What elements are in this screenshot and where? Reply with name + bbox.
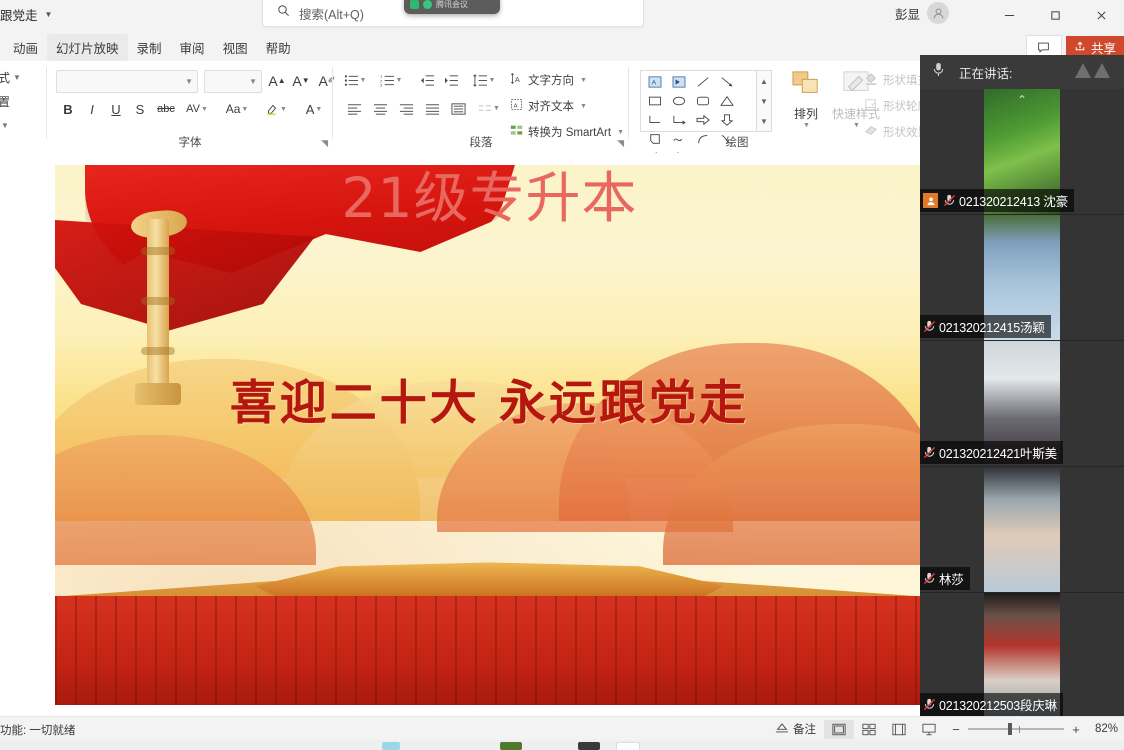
font-dialog-launcher[interactable]: ◥ <box>321 138 328 149</box>
wall-texture <box>55 596 924 705</box>
group-divider <box>46 67 47 139</box>
title-bar: 跟党走 ▼ 搜索(Alt+Q) 腾讯会议 彭显 <box>0 0 1124 34</box>
shape-elbow-connector2-icon[interactable] <box>667 110 691 129</box>
microphone-icon <box>932 62 945 82</box>
tab-help[interactable]: 帮助 <box>257 34 300 61</box>
scroll-up-icon[interactable]: ▲ <box>760 77 768 86</box>
text-shadow-button[interactable]: S <box>130 99 150 119</box>
svg-text:1: 1 <box>380 75 382 79</box>
tab-review[interactable]: 审阅 <box>171 34 214 61</box>
chevron-down-icon: ▼ <box>853 122 860 129</box>
shape-rectangle-icon[interactable] <box>643 91 667 110</box>
slideshow-view-button[interactable] <box>914 720 944 739</box>
chevron-down-icon: ▼ <box>489 77 496 84</box>
svg-text:A: A <box>652 79 657 86</box>
windows-taskbar <box>0 740 1124 750</box>
zoom-slider-thumb[interactable] <box>1008 723 1012 735</box>
emblem-ring <box>141 247 175 255</box>
text-direction-button[interactable]: A 文字方向 ▼ <box>510 72 587 88</box>
participant-name: 021320212421叶斯美 <box>939 443 1057 462</box>
party-emblem-column <box>129 201 189 401</box>
emblem-ring <box>141 347 175 355</box>
notes-button[interactable]: 备注 <box>767 720 824 739</box>
chevron-down-icon: ▼ <box>201 106 208 113</box>
zoom-slider-midpoint <box>1019 726 1020 733</box>
increase-font-size-button[interactable]: A▲ <box>266 70 288 91</box>
mic-off-icon <box>923 698 936 711</box>
slide-title-text[interactable]: 21级专升本 <box>55 171 924 226</box>
participant-tile[interactable]: 021320212415汤颖 <box>920 215 1124 341</box>
speaking-label: 正在讲话: <box>959 63 1012 82</box>
justify-button[interactable] <box>420 99 444 118</box>
slide-1[interactable]: 21级专升本 喜迎二十大 永远跟党走 <box>55 165 924 705</box>
mic-off-icon <box>923 572 936 585</box>
document-title-text: 跟党走 <box>0 5 38 24</box>
shape-oval-icon[interactable] <box>667 91 691 110</box>
application-window: 跟党走 ▼ 搜索(Alt+Q) 腾讯会议 彭显 <box>0 0 1124 750</box>
distribute-button[interactable] <box>446 99 470 118</box>
participant-video <box>984 467 1060 592</box>
slide-subtitle-text[interactable]: 喜迎二十大 永远跟党走 <box>55 380 924 427</box>
align-center-button[interactable] <box>368 99 392 118</box>
avatar[interactable] <box>927 2 949 24</box>
scroll-up-icon[interactable]: ⌃ <box>1017 93 1027 107</box>
ribbon-tabs: 动画 幻灯片放映 录制 审阅 视图 帮助 <box>4 34 300 61</box>
chevron-down-icon: ▼ <box>803 122 810 129</box>
window-controls <box>986 0 1124 30</box>
strikethrough-button[interactable]: abc <box>154 99 178 119</box>
zoom-control[interactable]: − + 82% <box>950 722 1118 737</box>
arrange-button[interactable]: 排列 ▼ <box>782 70 830 129</box>
section-button[interactable]: 节▼ <box>0 117 9 134</box>
arrange-icon <box>791 70 821 103</box>
zoom-level-label[interactable]: 82% <box>1088 723 1118 735</box>
character-spacing-button[interactable]: AV▼ <box>182 99 212 119</box>
shape-triangle-icon[interactable] <box>715 91 739 110</box>
taskbar-icon[interactable] <box>500 742 522 750</box>
host-badge <box>923 193 938 208</box>
participant-tile[interactable]: 021320212421叶斯美 <box>920 341 1124 467</box>
clear-formatting-icon[interactable]: A✐ <box>316 70 338 91</box>
bold-button[interactable]: B <box>58 99 78 119</box>
participant-tile[interactable]: ⌃ 021320212413 沈豪 <box>920 89 1124 215</box>
align-right-button[interactable] <box>394 99 418 118</box>
meeting-speaking-header: 正在讲话: <box>920 55 1124 89</box>
status-right-group: 备注 − + 82% <box>767 717 1118 741</box>
shape-line-icon[interactable] <box>691 72 715 91</box>
notes-icon <box>775 722 789 737</box>
ribbon-group-font: ▼ ▼ A▲ A▼ A✐ B I U S abc AV▼ Aa▼ ▼ A▼ 字体… <box>50 61 330 153</box>
ribbon-group-slides: 版式▼ 重置 节▼ <box>0 61 46 153</box>
font-name-combobox[interactable]: ▼ <box>56 70 198 93</box>
zoom-slider-track <box>968 728 1064 730</box>
reading-view-button[interactable] <box>884 720 914 739</box>
slide-sorter-view-button[interactable] <box>854 720 884 739</box>
scroll-down-icon[interactable]: ▼ <box>760 97 768 106</box>
change-case-label: Aa <box>226 102 241 116</box>
chevron-down-icon: ▼ <box>315 106 322 113</box>
numbering-button[interactable]: 123▼ <box>378 71 404 90</box>
search-placeholder: 搜索(Alt+Q) <box>299 4 364 23</box>
status-message: 功能: 一切就绪 <box>0 722 75 738</box>
participant-name: 021320212415汤颖 <box>939 317 1045 336</box>
meeting-panel: 正在讲话: ⌃ 021320212413 沈豪 <box>920 55 1124 716</box>
gallery-more-icon[interactable]: ▼ <box>760 117 768 126</box>
meeting-record-icon <box>423 0 432 9</box>
text-direction-icon: A <box>510 72 523 88</box>
participant-name: 林莎 <box>939 569 964 588</box>
participant-tile[interactable]: 林莎 <box>920 467 1124 593</box>
text-direction-label: 文字方向 <box>528 72 574 88</box>
emblem-ring <box>141 297 175 305</box>
chevron-down-icon: ▼ <box>1 121 9 130</box>
decrease-font-size-button[interactable]: A▼ <box>290 70 312 91</box>
decrease-indent-button[interactable] <box>416 71 438 90</box>
shape-arrow-box-icon[interactable] <box>667 72 691 91</box>
account-name: 彭显 <box>895 4 920 23</box>
minimize-button[interactable] <box>986 0 1032 30</box>
search-icon <box>277 4 290 22</box>
taskbar-icon[interactable] <box>578 742 600 750</box>
chevron-down-icon: ▼ <box>241 106 248 113</box>
status-bar: 功能: 一切就绪 备注 − <box>0 716 1124 741</box>
chevron-down-icon: ▼ <box>249 77 257 86</box>
taskbar-icon[interactable] <box>616 742 640 750</box>
reset-button[interactable]: 重置 <box>0 93 10 110</box>
mic-off-icon <box>923 446 936 459</box>
notes-label: 备注 <box>793 721 816 737</box>
shape-outline-icon <box>864 98 878 114</box>
meeting-mini-label: 腾讯会议 <box>436 0 468 10</box>
font-size-combobox[interactable]: ▼ <box>204 70 262 93</box>
layout-label: 版式 <box>0 69 10 86</box>
meeting-grid-icon <box>410 0 419 9</box>
participant-name-badge: 021320212415汤颖 <box>920 315 1051 338</box>
change-case-button[interactable]: Aa▼ <box>220 99 254 119</box>
audio-waves-icon <box>1075 63 1110 78</box>
chevron-down-icon: ▼ <box>185 77 193 86</box>
forbidden-city-graphic <box>55 467 924 705</box>
zoom-out-button[interactable]: − <box>950 722 962 737</box>
character-spacing-label: AV <box>186 103 200 115</box>
participant-name-badge: 021320212421叶斯美 <box>920 441 1063 464</box>
participant-name: 021320212503段庆琳 <box>939 695 1057 714</box>
svg-text:A: A <box>514 103 518 109</box>
increase-indent-button[interactable] <box>440 71 462 90</box>
mic-off-icon <box>923 320 936 333</box>
paragraph-group-label: 段落 <box>336 134 626 150</box>
align-text-label: 对齐文本 <box>528 98 574 114</box>
shape-arrow-icon[interactable] <box>715 72 739 91</box>
font-color-button[interactable]: A▼ <box>300 99 328 119</box>
columns-button[interactable]: ▼ <box>476 99 502 118</box>
layout-button[interactable]: 版式▼ <box>0 69 21 86</box>
maximize-button[interactable] <box>1032 0 1078 30</box>
shapes-gallery-scrollbar[interactable]: ▲ ▼ ▼ <box>756 71 771 131</box>
participant-name-badge: 021320212503段庆琳 <box>920 693 1063 716</box>
chevron-down-icon: ▼ <box>580 77 587 84</box>
chevron-down-icon: ▼ <box>280 106 287 113</box>
mic-off-icon <box>943 194 956 207</box>
meeting-mini-toolbar[interactable]: 腾讯会议 <box>404 0 500 14</box>
shape-down-arrow-icon[interactable] <box>715 110 739 129</box>
shape-fill-icon <box>864 72 878 88</box>
arrange-label: 排列 <box>794 105 818 122</box>
shape-rounded-rect-icon[interactable] <box>691 91 715 110</box>
svg-text:A: A <box>515 75 520 84</box>
participant-name-badge: 林莎 <box>920 567 970 590</box>
font-group-label: 字体 <box>50 134 330 150</box>
zoom-slider[interactable] <box>968 723 1064 735</box>
ribbon-group-paragraph: ▼ 123▼ ▼ <box>336 61 626 153</box>
tab-record[interactable]: 录制 <box>128 34 171 61</box>
share-icon <box>1074 40 1086 55</box>
chevron-down-icon: ▼ <box>13 73 21 82</box>
reset-label: 重置 <box>0 93 10 110</box>
shape-right-arrow-icon[interactable] <box>691 110 715 129</box>
tab-view[interactable]: 视图 <box>214 34 257 61</box>
paragraph-dialog-launcher[interactable]: ◥ <box>617 138 624 149</box>
chevron-down-icon: ▼ <box>360 77 367 84</box>
shape-textbox-icon[interactable]: A <box>643 72 667 91</box>
align-text-button[interactable]: A 对齐文本 ▼ <box>510 98 587 114</box>
taskbar-icon[interactable] <box>382 742 400 750</box>
tab-slideshow[interactable]: 幻灯片放映 <box>47 34 128 61</box>
group-divider <box>332 67 333 139</box>
close-button[interactable] <box>1078 0 1124 30</box>
group-divider <box>628 67 629 139</box>
shapes-gallery[interactable]: A <box>640 70 772 132</box>
tab-animation[interactable]: 动画 <box>4 34 47 61</box>
bullets-button[interactable]: ▼ <box>342 71 368 90</box>
participant-name: 021320212413 沈豪 <box>959 191 1068 210</box>
participant-list[interactable]: ⌃ 021320212413 沈豪 <box>920 89 1124 716</box>
document-title[interactable]: 跟党走 ▼ <box>0 4 52 24</box>
underline-button[interactable]: U <box>106 99 126 119</box>
normal-view-button[interactable] <box>824 720 854 739</box>
chevron-down-icon: ▼ <box>396 77 403 84</box>
drawing-group-label: 绘图 <box>632 134 842 150</box>
zoom-in-button[interactable]: + <box>1070 722 1082 737</box>
chevron-down-icon[interactable]: ▼ <box>45 10 53 19</box>
chevron-down-icon: ▼ <box>580 103 587 110</box>
participant-name-badge: 021320212413 沈豪 <box>920 189 1074 212</box>
line-spacing-button[interactable]: ▼ <box>470 71 498 90</box>
chevron-down-icon: ▼ <box>493 105 500 112</box>
shape-effects-icon <box>864 124 878 140</box>
text-highlight-color-button[interactable]: ▼ <box>262 99 290 119</box>
italic-button[interactable]: I <box>82 99 102 119</box>
align-left-button[interactable] <box>342 99 366 118</box>
slide-canvas[interactable]: 21级专升本 喜迎二十大 永远跟党走 <box>0 153 924 716</box>
shape-elbow-connector-icon[interactable] <box>643 110 667 129</box>
account-area[interactable]: 彭显 <box>895 2 949 24</box>
participant-tile[interactable]: ⌄ 021320212503段庆琳 <box>920 593 1124 716</box>
align-text-icon: A <box>510 98 523 114</box>
ribbon-group-drawing: A <box>632 61 932 153</box>
svg-text:3: 3 <box>380 84 382 87</box>
